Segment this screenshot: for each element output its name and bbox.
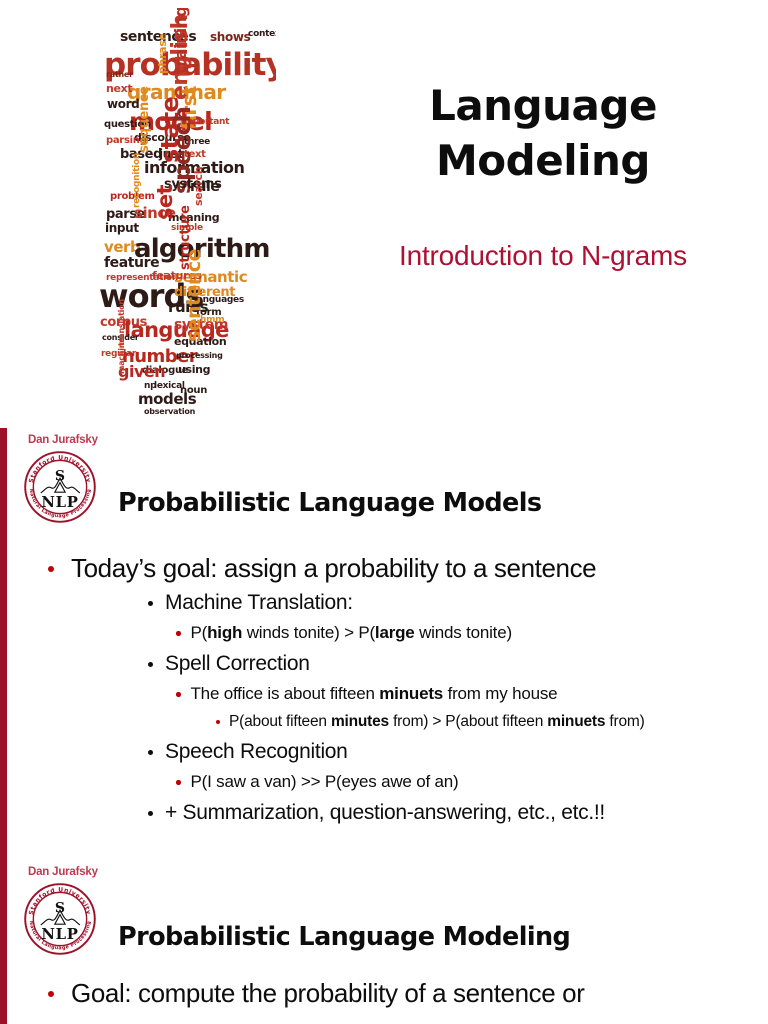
- wordcloud-word: using: [178, 364, 210, 375]
- wordcloud-word: processing: [176, 352, 223, 360]
- wordcloud-word: word: [107, 98, 139, 110]
- wordcloud-word: rather: [106, 71, 133, 79]
- bullet-item-level-2: Spell Correction: [148, 652, 760, 676]
- bullet-item-level-3: P(high winds tonite) > P(large winds ton…: [176, 623, 760, 643]
- bullet-text: P(high winds tonite) > P(large winds ton…: [191, 623, 512, 643]
- bullet-item-level-4: P(about fifteen minutes from) > P(about …: [216, 713, 760, 731]
- bullet-text: Spell Correction: [165, 652, 310, 676]
- slide-probabilistic-language-models: Dan Jurafsky Stanford University Natural…: [0, 428, 768, 860]
- wordcloud-word: machine: [118, 338, 126, 374]
- wordcloud-word: set: [155, 185, 176, 220]
- slide-title: probabilitysentencesshowscontextgrammarm…: [0, 0, 768, 428]
- bullet-text: The office is about fifteen minuets from…: [191, 684, 558, 704]
- slide3-title: Probabilistic Language Modeling: [118, 922, 570, 952]
- author-label: Dan Jurafsky: [28, 866, 98, 878]
- bullet-text: Machine Translation:: [165, 591, 353, 615]
- bullet-dot-icon: [48, 991, 54, 997]
- slide2-title: Probabilistic Language Models: [118, 488, 541, 518]
- wordcloud-word: shows: [210, 31, 250, 43]
- bullet-item-level-2: + Summarization, question-answering, etc…: [148, 801, 760, 825]
- wordcloud-word: search: [193, 167, 204, 206]
- slide-probabilistic-language-modeling: Dan Jurafsky Stanford University Natural…: [0, 860, 768, 1024]
- wordcloud-word: context: [248, 30, 276, 39]
- bullet-item-level-3: The office is about fifteen minuets from…: [176, 684, 760, 704]
- bullet-text: Speech Recognition: [165, 740, 348, 764]
- bullet-dot-icon: [148, 811, 153, 816]
- wordcloud-word: input: [105, 222, 139, 234]
- bullet-text: + Summarization, question-answering, etc…: [165, 801, 605, 825]
- wordcloud-word: next: [106, 83, 132, 94]
- bullet-dot-icon: [176, 780, 181, 785]
- stanford-nlp-logo: Stanford University Natural Language Pro…: [23, 882, 97, 956]
- wordcloud-word: observation: [144, 408, 195, 416]
- bullet-dot-icon: [148, 662, 153, 667]
- bullet-dot-icon: [148, 601, 153, 606]
- slide-deck-page: probabilitysentencesshowscontextgrammarm…: [0, 0, 768, 1024]
- slide-subtitle: Introduction to N-grams: [330, 240, 756, 272]
- wordcloud-word: training: [173, 8, 189, 74]
- bullet-item-level-2: Machine Translation:: [148, 591, 760, 615]
- title-block: Language Modeling: [330, 78, 756, 189]
- svg-text:NLP: NLP: [41, 494, 78, 511]
- slide-accent-bar: [0, 428, 7, 860]
- bullet-text: Today’s goal: assign a probability to a …: [71, 553, 596, 584]
- slide-accent-bar: [0, 860, 7, 1024]
- stanford-nlp-logo: Stanford University Natural Language Pro…: [23, 450, 97, 524]
- wordcloud-word: recognition: [133, 153, 142, 208]
- bullet-item-level-1: Goal: compute the probability of a sente…: [48, 978, 760, 1009]
- bullet-text: Goal: compute the probability of a sente…: [71, 978, 584, 1009]
- bullet-item-level-2: Speech Recognition: [148, 740, 760, 764]
- bullet-dot-icon: [176, 631, 181, 636]
- bullet-item-level-3: P(I saw a van) >> P(eyes awe of an): [176, 772, 760, 792]
- bullet-text: P(about fifteen minutes from) > P(about …: [229, 713, 645, 731]
- wordcloud-word: phrase: [157, 33, 168, 74]
- bullet-item-level-1: Today’s goal: assign a probability to a …: [48, 553, 760, 584]
- wordcloud-word: noun: [180, 386, 207, 396]
- wordcloud-word: sequence: [138, 86, 151, 153]
- author-label: Dan Jurafsky: [28, 434, 98, 446]
- wordcloud-word: sentence: [185, 249, 204, 342]
- wordcloud-image: probabilitysentencesshowscontextgrammarm…: [96, 8, 276, 418]
- main-title-line1: Language: [330, 78, 756, 133]
- bullet-dot-icon: [176, 692, 181, 697]
- bullet-dot-icon: [148, 750, 153, 755]
- bullet-dot-icon: [48, 566, 54, 572]
- bullet-text: P(I saw a van) >> P(eyes awe of an): [191, 772, 459, 792]
- svg-text:NLP: NLP: [41, 926, 78, 943]
- wordcloud-word: feature: [104, 256, 159, 270]
- bullet-dot-icon: [216, 720, 220, 724]
- main-title-line2: Modeling: [330, 133, 756, 188]
